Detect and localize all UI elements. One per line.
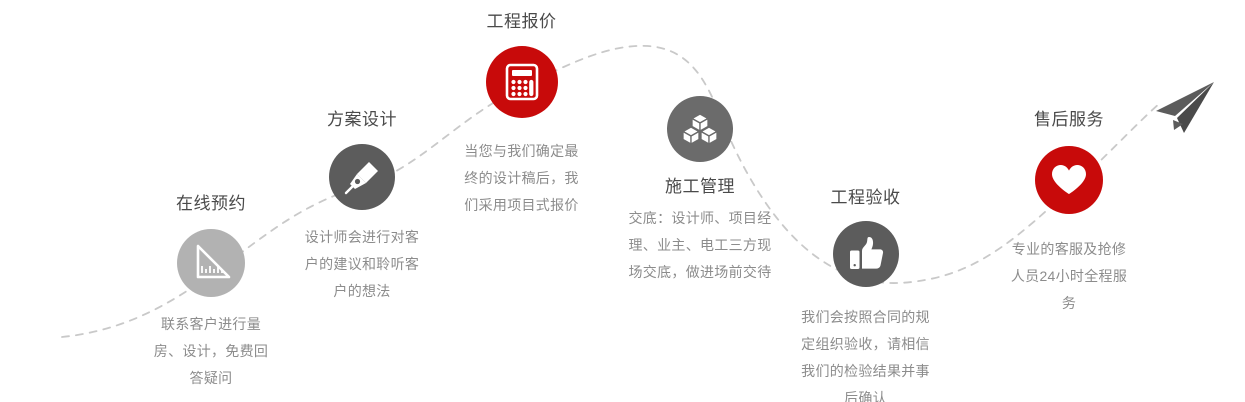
paper-plane-icon <box>1150 80 1216 140</box>
step-5-desc-line: 我们的检验结果并事 <box>778 358 953 385</box>
step-2-desc-line: 设计师会进行对客 <box>282 224 442 251</box>
step-6-title: 售后服务 <box>988 108 1150 132</box>
step-4-title: 施工管理 <box>605 175 795 199</box>
step-1-description: 联系客户进行量 房、设计，免费回 答疑问 <box>131 311 291 392</box>
step-1-desc-line: 房、设计，免费回 <box>131 338 291 365</box>
step-2-title: 方案设计 <box>282 108 442 132</box>
step-5-title: 工程验收 <box>778 186 953 210</box>
blocks-cubes-icon <box>667 96 733 162</box>
ruler-triangle-icon <box>177 229 245 297</box>
step-2-description: 设计师会进行对客 户的建议和聆听客 户的想法 <box>282 224 442 305</box>
step-2[interactable]: 方案设计 设计师会进行对客 户的建议和聆听客 户的想法 <box>282 108 442 305</box>
step-1-desc-line: 联系客户进行量 <box>131 311 291 338</box>
step-4-desc-line: 交底：设计师、项目经 <box>605 205 795 232</box>
step-4-description: 交底：设计师、项目经 理、业主、电工三方现 场交底，做进场前交待 <box>605 205 795 286</box>
step-5-desc-line: 我们会按照合同的规 <box>778 304 953 331</box>
heart-icon <box>1035 146 1103 214</box>
step-6-desc-line: 务 <box>988 290 1150 317</box>
step-5-desc-line: 后确认 <box>778 385 953 402</box>
step-4-desc-line: 场交底，做进场前交待 <box>605 259 795 286</box>
step-6-desc-line: 人员24小时全程服 <box>988 263 1150 290</box>
step-3-desc-line: 当您与我们确定最 <box>440 138 603 165</box>
flow-diagram: 在线预约 联系客户进行量 房、设计，免费回 答疑问 方案设计 <box>0 0 1245 402</box>
step-6-description: 专业的客服及抢修 人员24小时全程服 务 <box>988 236 1150 317</box>
step-1-title: 在线预约 <box>131 192 291 216</box>
step-3-desc-line: 们采用项目式报价 <box>440 192 603 219</box>
step-6[interactable]: 售后服务 专业的客服及抢修 人员24小时全程服 务 <box>988 108 1150 317</box>
step-6-desc-line: 专业的客服及抢修 <box>988 236 1150 263</box>
step-5-description: 我们会按照合同的规 定组织验收，请相信 我们的检验结果并事 后确认 <box>778 304 953 402</box>
step-4-desc-line: 理、业主、电工三方现 <box>605 232 795 259</box>
step-1[interactable]: 在线预约 联系客户进行量 房、设计，免费回 答疑问 <box>131 192 291 392</box>
calculator-icon <box>486 46 558 118</box>
step-4[interactable]: 施工管理 交底：设计师、项目经 理、业主、电工三方现 场交底，做进场前交待 <box>605 96 795 286</box>
step-3-desc-line: 终的设计稿后，我 <box>440 165 603 192</box>
step-3-title: 工程报价 <box>440 10 603 34</box>
step-1-desc-line: 答疑问 <box>131 365 291 392</box>
fountain-pen-icon <box>329 144 395 210</box>
step-3-description: 当您与我们确定最 终的设计稿后，我 们采用项目式报价 <box>440 138 603 219</box>
step-5-desc-line: 定组织验收，请相信 <box>778 331 953 358</box>
step-2-desc-line: 户的想法 <box>282 278 442 305</box>
step-5[interactable]: 工程验收 我们会按照合同的规 定组织验收，请相信 我们的检验结果并事 后确认 <box>778 186 953 402</box>
thumbs-up-icon <box>833 221 899 287</box>
step-2-desc-line: 户的建议和聆听客 <box>282 251 442 278</box>
step-3[interactable]: 工程报价 当您与我们确定最 <box>440 10 603 219</box>
